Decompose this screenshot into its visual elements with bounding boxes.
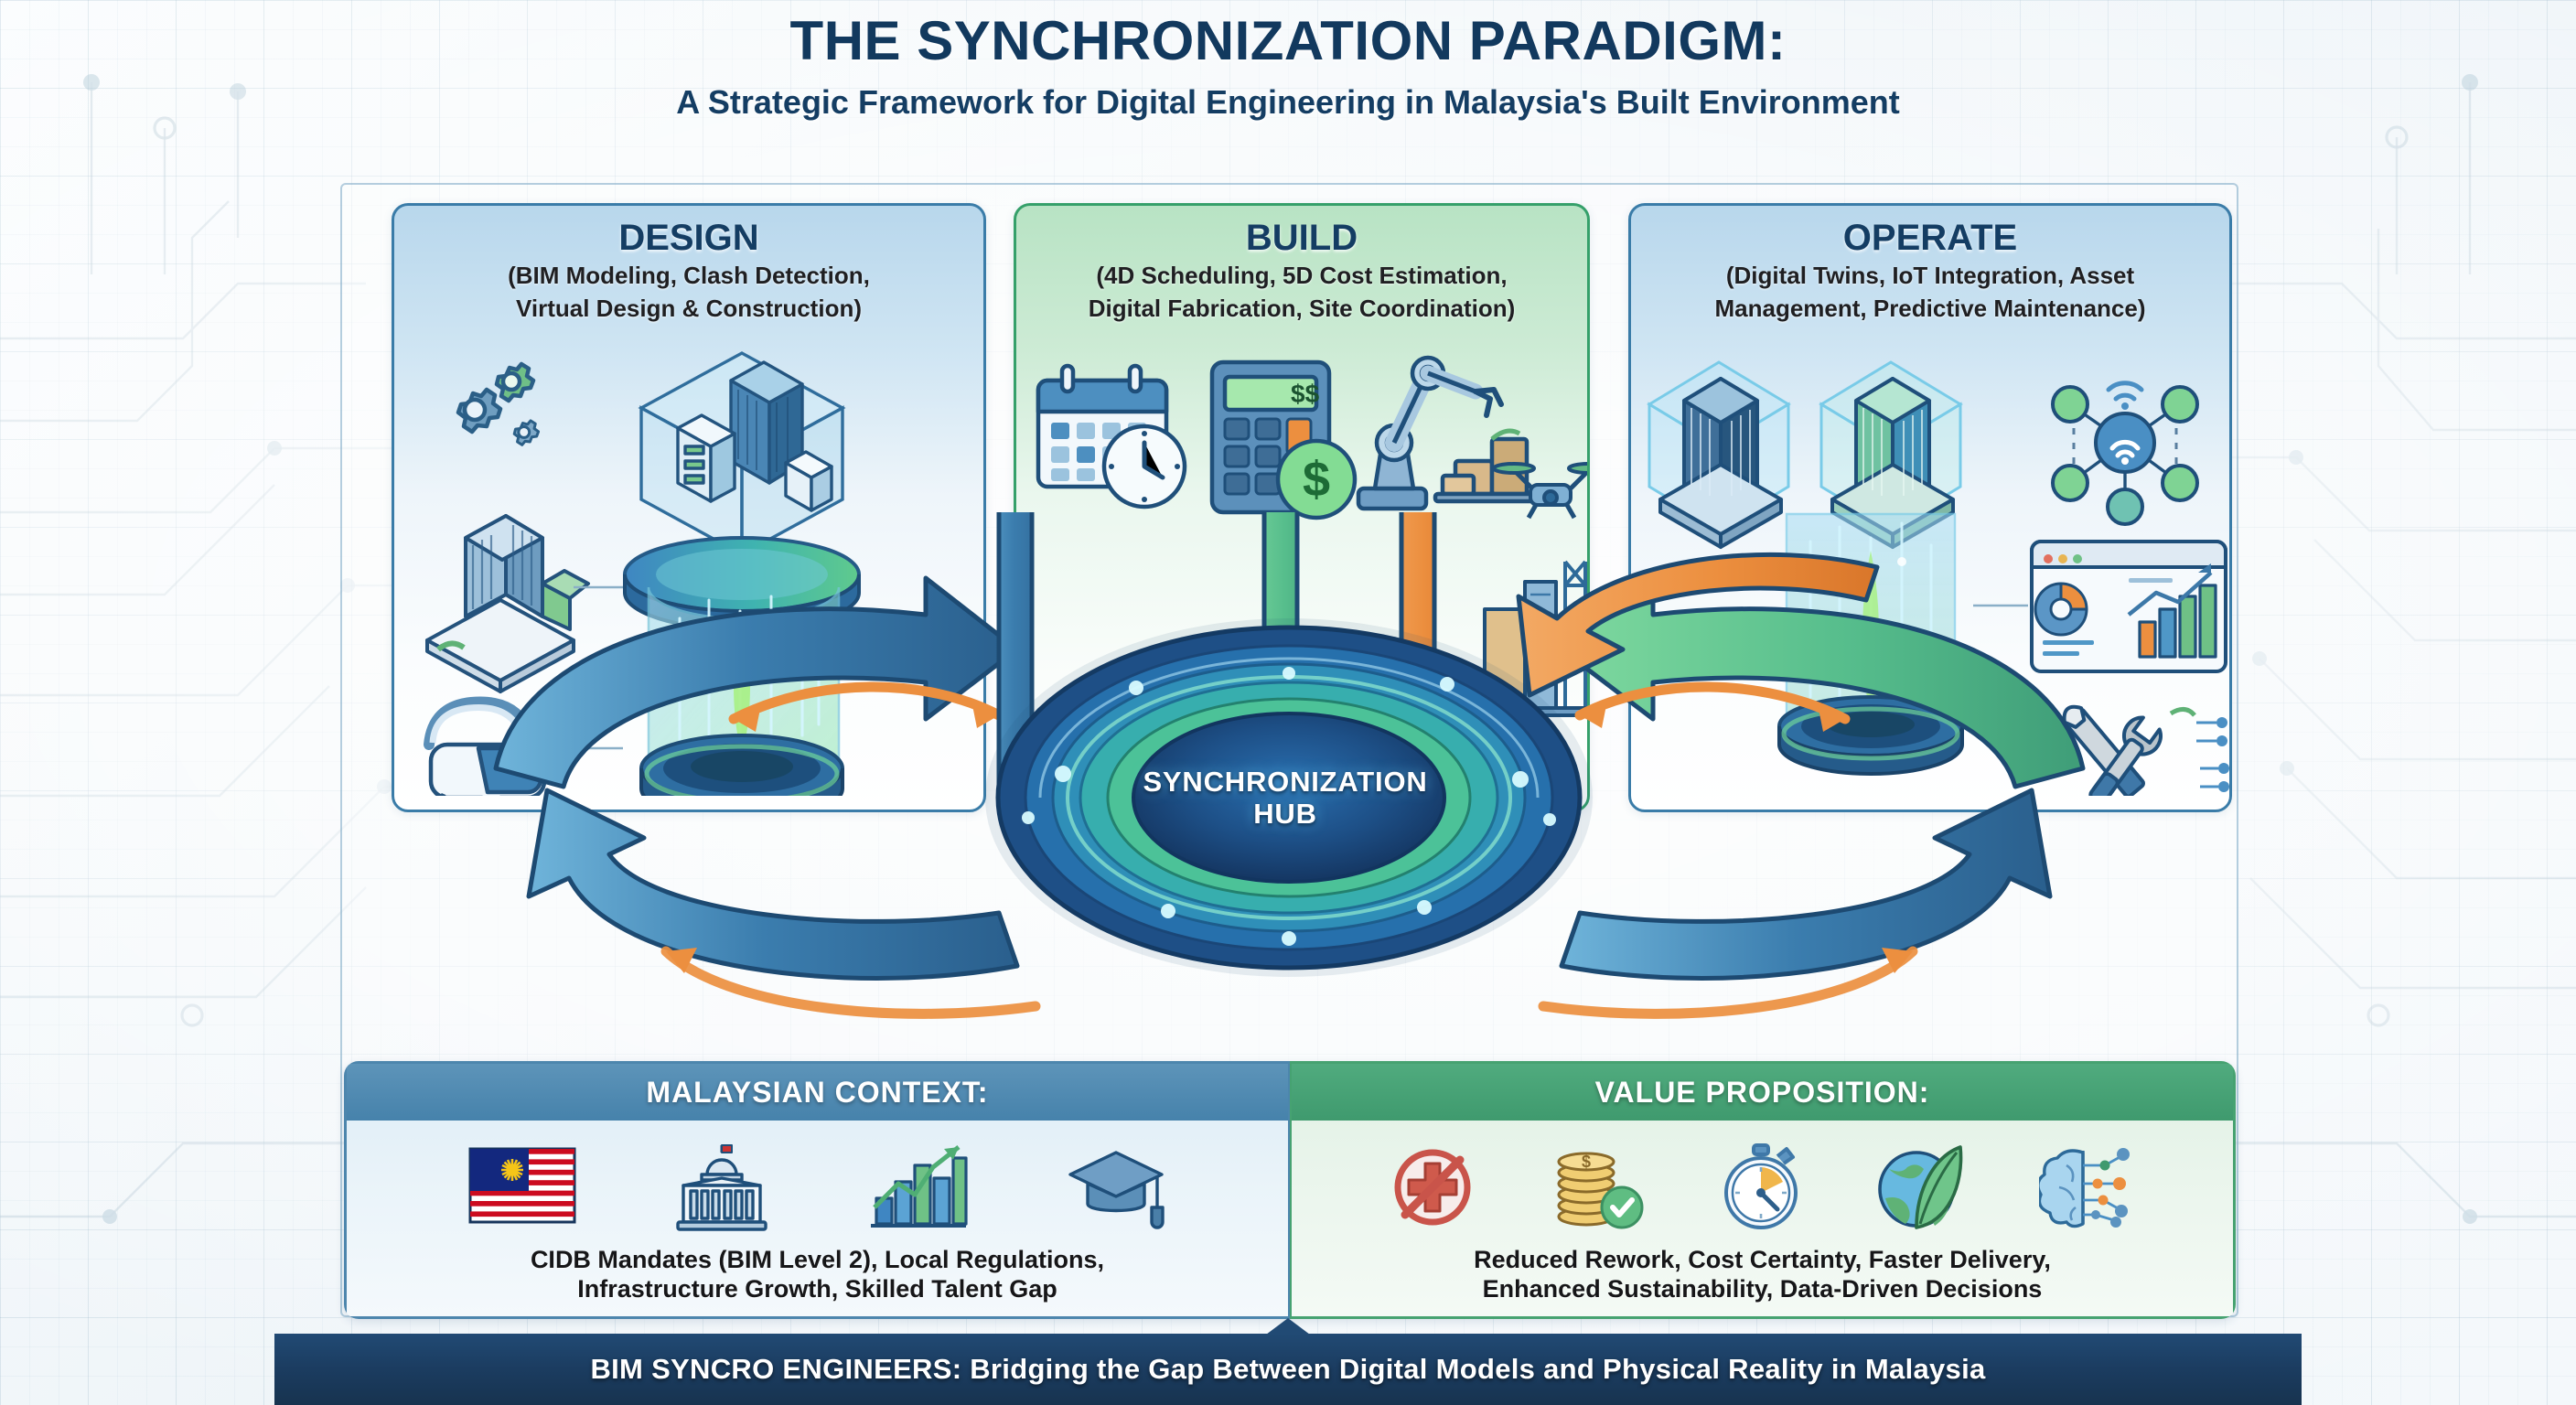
vr-headset-icon <box>429 702 544 796</box>
graduation-cap-icon <box>1066 1143 1166 1231</box>
holographic-bim-cube-icon <box>625 353 859 796</box>
design-illustration <box>394 338 983 796</box>
iot-network-wifi-icon <box>2053 383 2197 524</box>
hub-label-line1: SYNCHRONIZATION <box>1139 767 1432 799</box>
gears-icon <box>458 364 539 445</box>
footer-notch <box>1266 1318 1310 1335</box>
bottom-panels: MALAYSIAN CONTEXT: <box>344 1061 2236 1319</box>
phase-header-design: DESIGN (BIM Modeling, Clash Detection, V… <box>394 206 983 338</box>
stopwatch-icon <box>1719 1143 1803 1231</box>
analytics-dashboard-icon <box>2032 542 2226 671</box>
svg-text:$: $ <box>1303 452 1330 507</box>
operate-illustration <box>1631 338 2229 796</box>
phase-header-build: BUILD (4D Scheduling, 5D Cost Estimation… <box>1016 206 1587 338</box>
hub-label-line2: HUB <box>1139 799 1432 831</box>
malaysian-context-heading: MALAYSIAN CONTEXT: <box>347 1064 1288 1121</box>
calculator-money-icon: $$ $ <box>1212 362 1355 518</box>
malaysian-context-text-line2: Infrastructure Growth, Skilled Talent Ga… <box>363 1275 1272 1303</box>
malaysian-context-text-line1: CIDB Mandates (BIM Level 2), Local Regul… <box>363 1246 1272 1274</box>
malaysian-context-panel[interactable]: MALAYSIAN CONTEXT: <box>344 1061 1290 1319</box>
growth-chart-icon <box>867 1143 968 1231</box>
phase-desc-operate-line2: Management, Predictive Maintenance) <box>1640 295 2220 323</box>
page-subtitle: A Strategic Framework for Digital Engine… <box>0 83 2576 122</box>
build-illustration: $$ $ <box>1016 338 1587 778</box>
robot-arm-icon <box>1358 358 1536 509</box>
phase-desc-build-line2: Digital Fabrication, Site Coordination) <box>1025 295 1578 323</box>
phase-panel-build[interactable]: BUILD (4D Scheduling, 5D Cost Estimation… <box>1014 203 1590 812</box>
phase-body-design <box>394 338 983 800</box>
phase-desc-design-line2: Virtual Design & Construction) <box>403 295 974 323</box>
calendar-clock-icon <box>1038 366 1185 507</box>
phase-desc-build-line1: (4D Scheduling, 5D Cost Estimation, <box>1025 262 1578 290</box>
isometric-building-site-icon <box>427 516 588 692</box>
maintenance-tools-icon <box>2059 702 2229 797</box>
cost-certainty-coins-icon: $ <box>1550 1143 1647 1231</box>
sustainability-earth-leaf-icon <box>1876 1143 1966 1231</box>
phase-desc-design-line1: (BIM Modeling, Clash Detection, <box>403 262 974 290</box>
svg-text:$: $ <box>1582 1153 1591 1171</box>
phase-panel-design[interactable]: DESIGN (BIM Modeling, Clash Detection, V… <box>392 203 986 812</box>
footer-text: BIM SYNCRO ENGINEERS: Bridging the Gap B… <box>590 1353 1985 1386</box>
no-rework-icon <box>1389 1143 1476 1231</box>
value-proposition-icons: $ <box>1292 1121 2233 1246</box>
connector-lines-operate <box>1973 606 2034 732</box>
hub-label: SYNCHRONIZATION HUB <box>1139 767 1432 830</box>
phase-body-build: $$ $ <box>1016 338 1587 782</box>
malaysian-context-text: CIDB Mandates (BIM Level 2), Local Regul… <box>347 1246 1288 1316</box>
value-proposition-text-line1: Reduced Rework, Cost Certainty, Faster D… <box>1308 1246 2216 1274</box>
value-proposition-panel[interactable]: VALUE PROPOSITION: $ <box>1290 1061 2236 1319</box>
malaysian-context-icons <box>347 1121 1288 1246</box>
ai-brain-icon <box>2039 1143 2136 1231</box>
phase-body-operate <box>1631 338 2229 800</box>
header: THE SYNCHRONIZATION PARADIGM: A Strategi… <box>0 9 2576 122</box>
phase-title-operate: OPERATE <box>1640 219 2220 257</box>
page-title: THE SYNCHRONIZATION PARADIGM: <box>0 9 2576 72</box>
value-proposition-text: Reduced Rework, Cost Certainty, Faster D… <box>1292 1246 2233 1316</box>
svg-text:$$: $$ <box>1291 380 1320 408</box>
phase-title-build: BUILD <box>1025 219 1578 257</box>
value-proposition-heading: VALUE PROPOSITION: <box>1292 1064 2233 1121</box>
government-building-icon <box>674 1143 769 1231</box>
footer-banner: BIM SYNCRO ENGINEERS: Bridging the Gap B… <box>274 1334 2302 1405</box>
holographic-asset-column-icon <box>1779 514 1962 774</box>
construction-site-icon <box>1474 562 1587 715</box>
phase-desc-operate-line1: (Digital Twins, IoT Integration, Asset <box>1640 262 2220 290</box>
phase-header-operate: OPERATE (Digital Twins, IoT Integration,… <box>1631 206 2229 338</box>
malaysia-flag-icon <box>468 1143 576 1231</box>
phase-panel-operate[interactable]: OPERATE (Digital Twins, IoT Integration,… <box>1628 203 2232 812</box>
value-proposition-text-line2: Enhanced Sustainability, Data-Driven Dec… <box>1308 1275 2216 1303</box>
phase-title-design: DESIGN <box>403 219 974 257</box>
